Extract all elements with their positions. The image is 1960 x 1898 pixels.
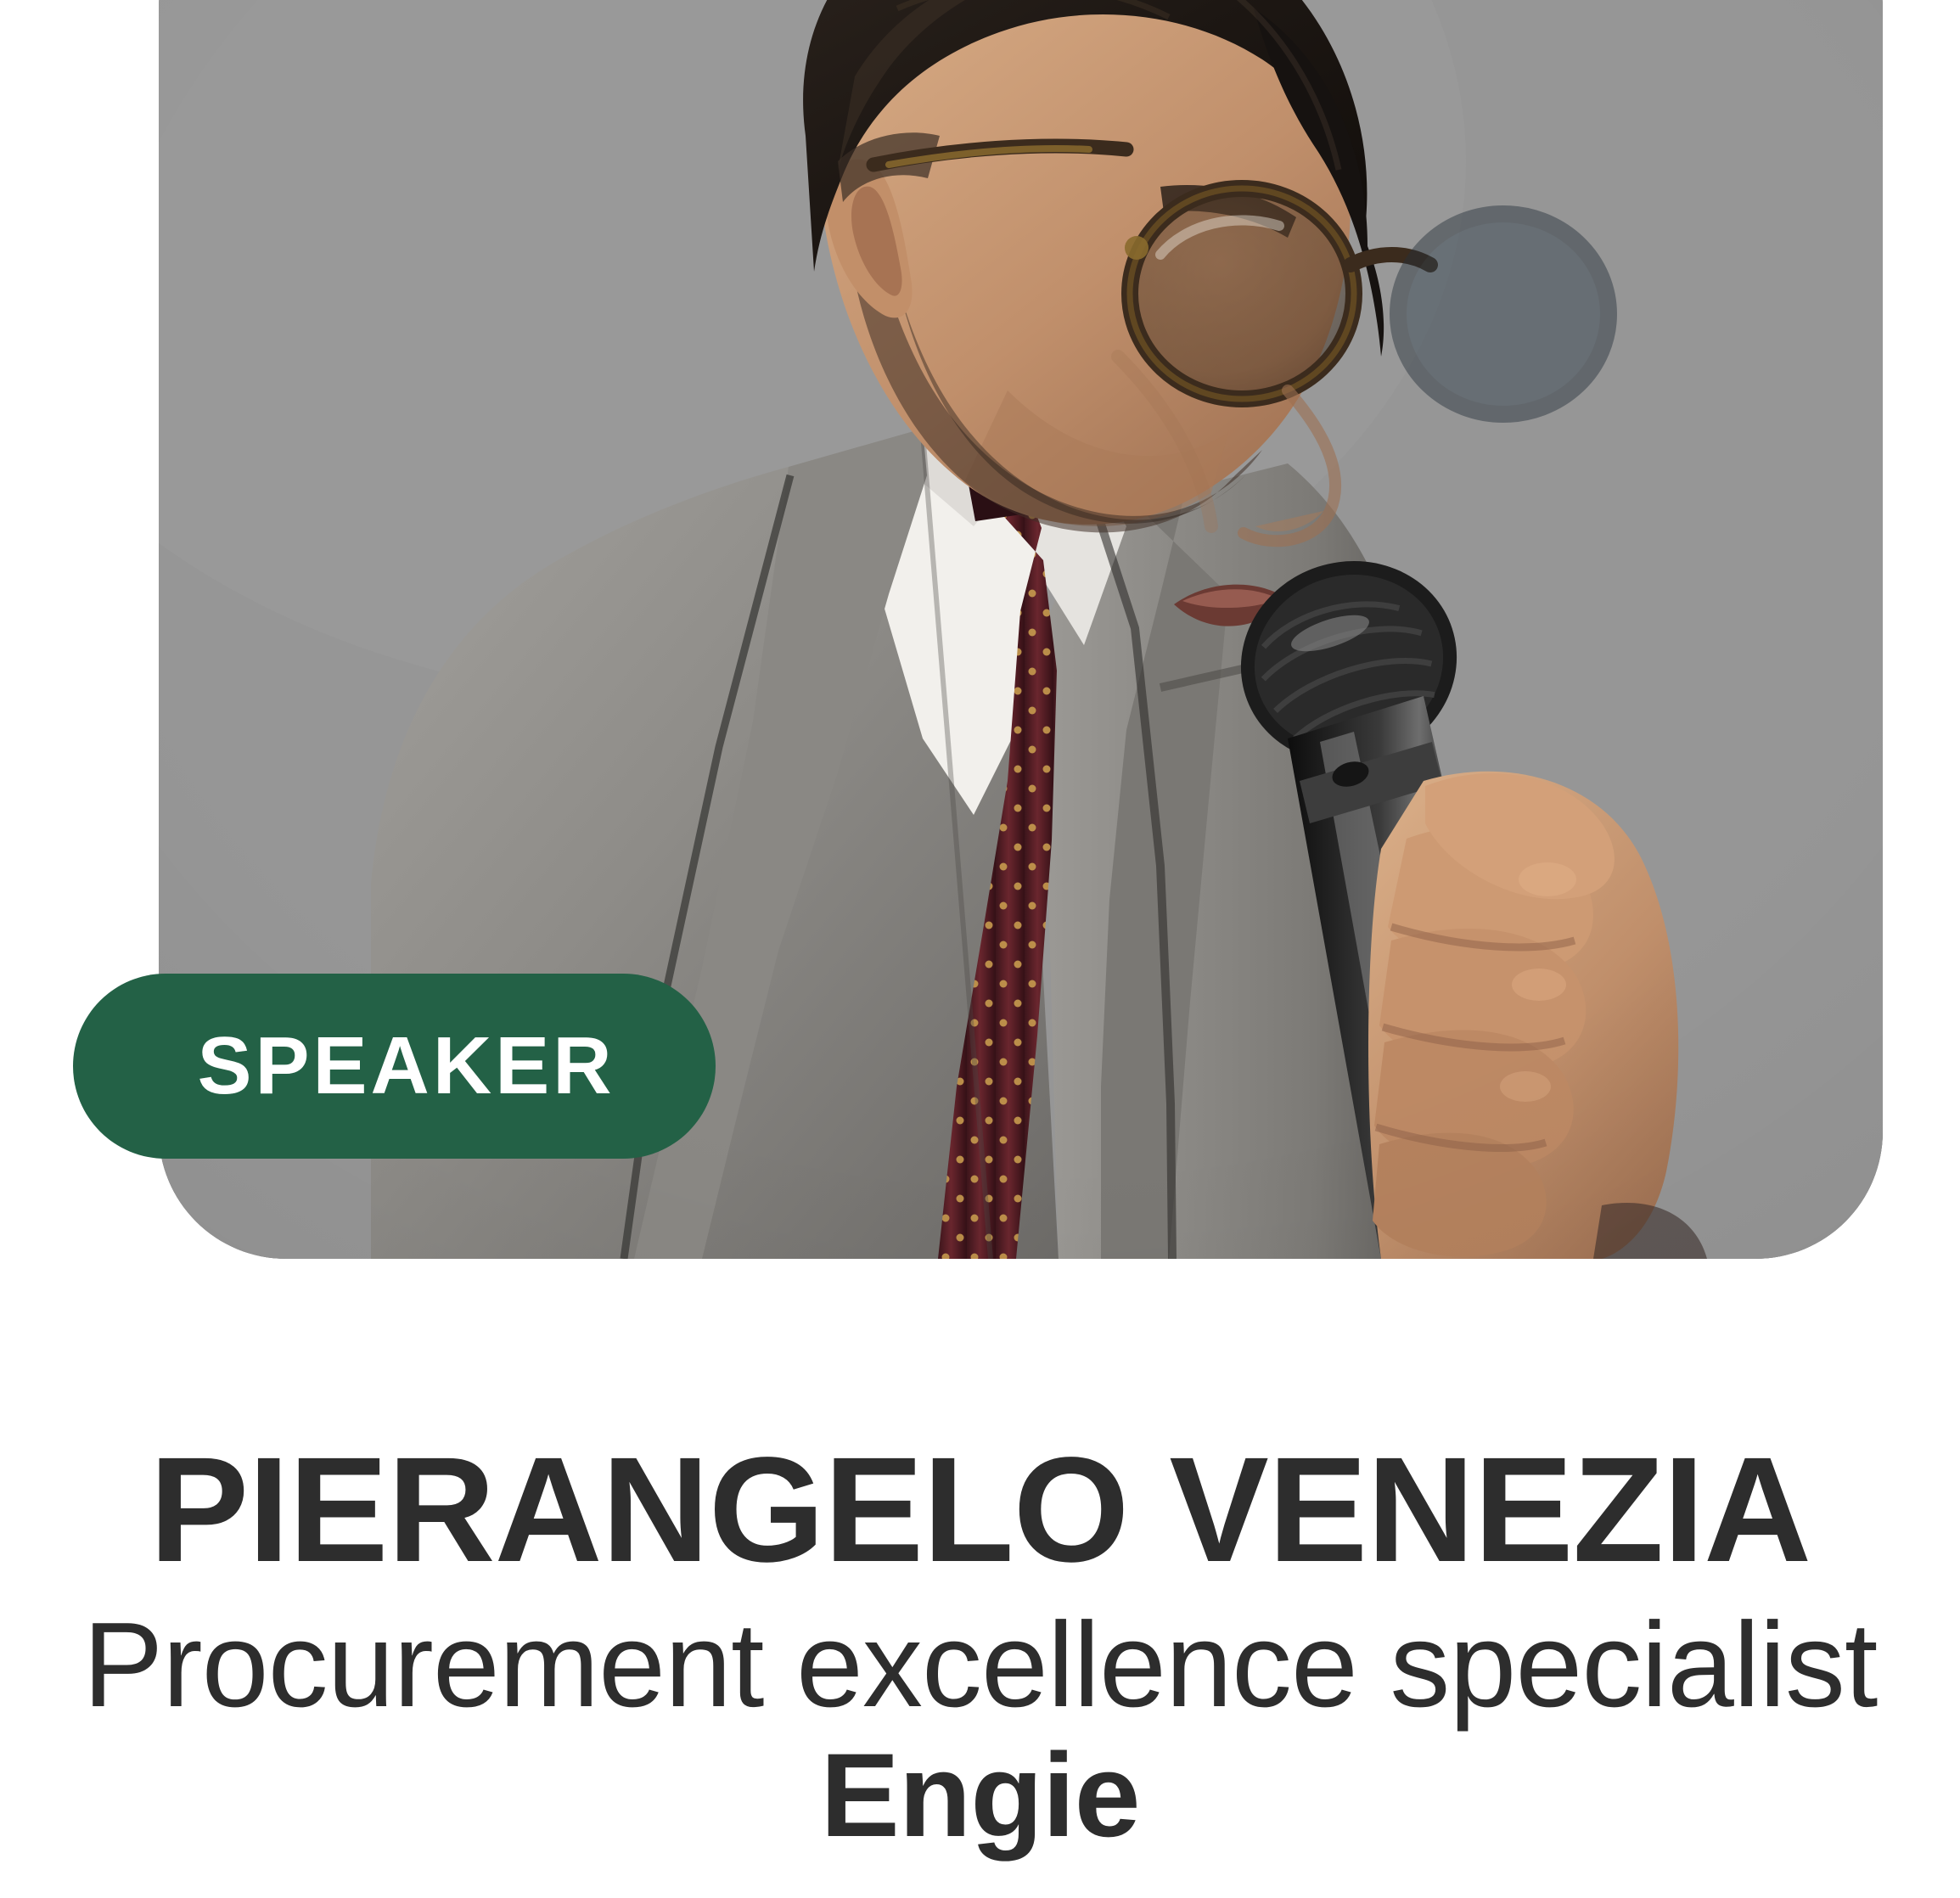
speaker-role: Procurement excellence specialist: [0, 1598, 1960, 1732]
speaker-company: Engie: [0, 1732, 1960, 1858]
speaker-card: SPEAKER PIERANGELO VENEZIA Procurement e…: [0, 0, 1960, 1898]
speaker-info-block: PIERANGELO VENEZIA Procurement excellenc…: [0, 1435, 1960, 1858]
speaker-badge-label: SPEAKER: [197, 1025, 615, 1107]
speaker-name: PIERANGELO VENEZIA: [0, 1435, 1960, 1587]
speaker-badge: SPEAKER: [73, 974, 716, 1159]
